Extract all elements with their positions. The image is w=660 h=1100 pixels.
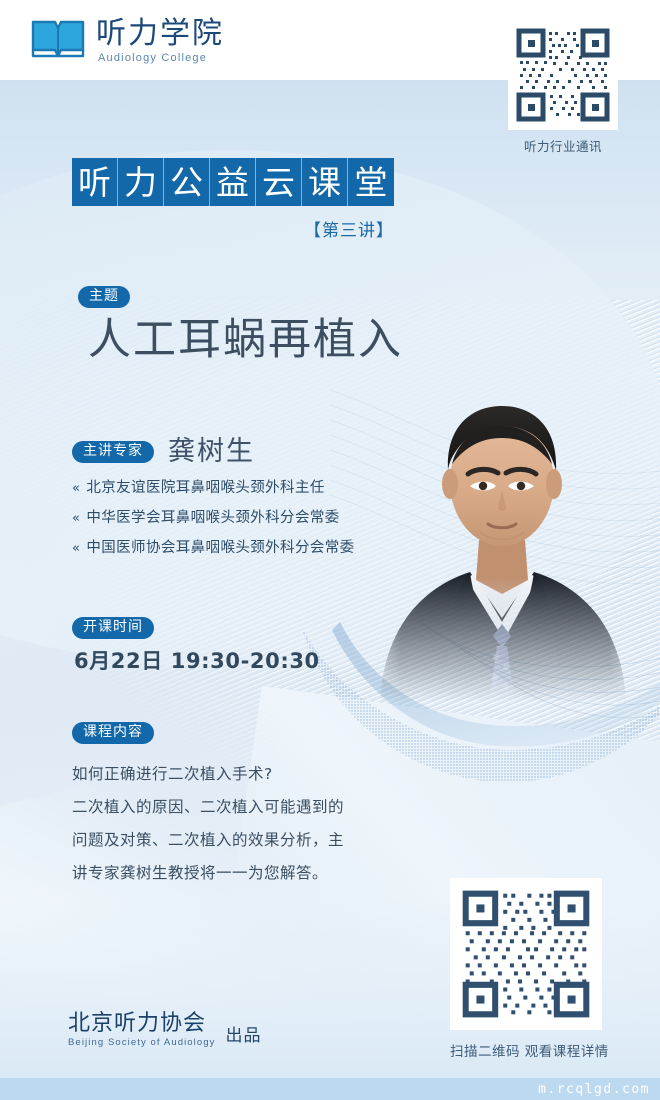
speaker-block: 主讲专家 龚树生 « 北京友谊医院耳鼻咽喉头颈外科主任 « 中华医学会耳鼻咽喉头… bbox=[72, 437, 355, 570]
speaker-credentials: « 北京友谊医院耳鼻咽喉头颈外科主任 « 中华医学会耳鼻咽喉头颈外科分会常委 «… bbox=[72, 480, 355, 557]
title-char: 益 bbox=[210, 158, 256, 206]
credential-marker: « bbox=[72, 481, 80, 497]
title-char: 云 bbox=[256, 158, 302, 206]
speaker-name-row: 主讲专家 龚树生 bbox=[72, 437, 355, 467]
credential-text: 中华医学会耳鼻咽喉头颈外科分会常委 bbox=[86, 510, 339, 526]
title-char: 课 bbox=[302, 158, 348, 206]
open-book-icon bbox=[30, 16, 86, 62]
credential-marker: « bbox=[72, 511, 80, 527]
speaker-badge: 主讲专家 bbox=[72, 441, 154, 463]
topic-badge: 主题 bbox=[78, 286, 130, 308]
time-badge: 开课时间 bbox=[72, 617, 154, 639]
topic-title: 人工耳蜗再植入 bbox=[88, 315, 403, 365]
main-title-subtitle: 【第三讲】 bbox=[72, 216, 394, 241]
content-block: 课程内容 如何正确进行二次植入手术? 二次植入的原因、二次植入可能遇到的 问题及… bbox=[72, 722, 344, 890]
logo-title-en: Audiology College bbox=[98, 51, 224, 65]
credential-text: 中国医师协会耳鼻咽喉头颈外科分会常委 bbox=[86, 540, 354, 556]
credential-text: 北京友谊医院耳鼻咽喉头颈外科主任 bbox=[86, 480, 324, 496]
main-title-block: 听 力 公 益 云 课 堂 【第三讲】 bbox=[72, 158, 394, 241]
footer-org-en: Beijing Society of Audiology bbox=[68, 1037, 216, 1049]
brand-logo[interactable]: 听力学院 Audiology College bbox=[30, 16, 224, 65]
credential-marker: « bbox=[72, 541, 80, 557]
footer-org: 北京听力协会 Beijing Society of Audiology bbox=[68, 1012, 216, 1049]
credential-item: « 中华医学会耳鼻咽喉头颈外科分会常委 bbox=[72, 510, 355, 527]
qr-top-card[interactable] bbox=[508, 20, 618, 130]
content-badge: 课程内容 bbox=[72, 722, 154, 744]
credential-item: « 中国医师协会耳鼻咽喉头颈外科分会常委 bbox=[72, 540, 355, 557]
topic-block: 主题 人工耳蜗再植入 bbox=[78, 286, 403, 365]
qr-top-caption: 听力行业通讯 bbox=[508, 136, 618, 155]
qr-bottom-caption: 扫描二维码 观看课程详情 bbox=[450, 1040, 609, 1060]
content-line: 二次植入的原因、二次植入可能遇到的 bbox=[72, 791, 344, 824]
qr-bottom-block[interactable]: 扫描二维码 观看课程详情 bbox=[450, 878, 609, 1060]
credential-item: « 北京友谊医院耳鼻咽喉头颈外科主任 bbox=[72, 480, 355, 497]
logo-title-cn: 听力学院 bbox=[96, 18, 224, 50]
title-char: 公 bbox=[164, 158, 210, 206]
qr-code-icon bbox=[459, 887, 593, 1021]
footer-block: 北京听力协会 Beijing Society of Audiology 出品 bbox=[68, 1012, 262, 1049]
title-char: 力 bbox=[118, 158, 164, 206]
speaker-portrait bbox=[352, 372, 652, 702]
footer-org-cn: 北京听力协会 bbox=[68, 1012, 216, 1036]
poster-root: 听力学院 Audiology College bbox=[0, 0, 660, 1100]
watermark-text: m.rcqlgd.com bbox=[538, 1082, 650, 1097]
title-char: 堂 bbox=[348, 158, 394, 206]
content-line: 如何正确进行二次植入手术? bbox=[72, 758, 344, 791]
watermark-bar: m.rcqlgd.com bbox=[0, 1078, 660, 1100]
main-title-boxes: 听 力 公 益 云 课 堂 bbox=[72, 158, 394, 206]
speaker-name: 龚树生 bbox=[168, 437, 255, 467]
qr-top-block[interactable]: 听力行业通讯 bbox=[508, 20, 618, 155]
content-line: 讲专家龚树生教授将一一为您解答。 bbox=[72, 857, 344, 890]
content-lines: 如何正确进行二次植入手术? 二次植入的原因、二次植入可能遇到的 问题及对策、二次… bbox=[72, 758, 344, 890]
qr-code-icon bbox=[513, 25, 613, 125]
footer-tag: 出品 bbox=[226, 1021, 262, 1049]
content-line: 问题及对策、二次植入的效果分析，主 bbox=[72, 824, 344, 857]
time-value: 6月22日 19:30-20:30 bbox=[74, 649, 320, 673]
qr-bottom-card[interactable] bbox=[450, 878, 602, 1030]
title-char: 听 bbox=[72, 158, 118, 206]
time-block: 开课时间 6月22日 19:30-20:30 bbox=[72, 617, 320, 673]
